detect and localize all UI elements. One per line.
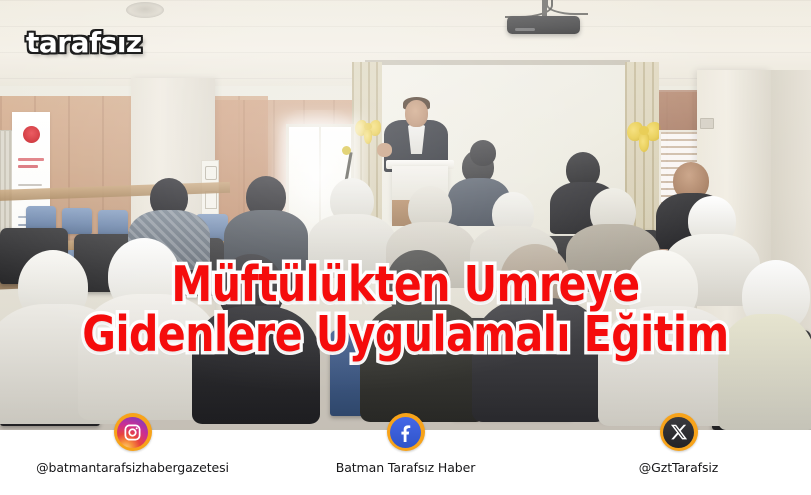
blue-chair (98, 210, 128, 236)
ceiling-vent-icon (126, 2, 164, 18)
social-label-instagram: @batmantarafsizhabergazetesi (36, 460, 229, 475)
social-label-x: @GztTarafsiz (639, 460, 718, 475)
speaker-hand (377, 143, 392, 157)
instagram-icon[interactable] (117, 417, 148, 448)
news-image-card: tarafsız Müftülükten Umreye Gidenlere Uy… (0, 0, 811, 495)
social-item-instagram[interactable]: @batmantarafsizhabergazetesi (40, 430, 225, 475)
wall-socket-icon (700, 118, 714, 129)
curtain-bow-right-icon (627, 120, 661, 152)
headline: Müftülükten Umreye Gidenlere Uygulamalı … (0, 262, 811, 357)
tarafsiz-watermark-logo: tarafsız (26, 26, 142, 59)
headline-line-1: Müftülükten Umreye (28, 262, 782, 307)
social-links-row: @batmantarafsizhabergazetesi Batman Tara… (0, 430, 811, 495)
instagram-icon-ring[interactable] (114, 413, 152, 451)
audience-head (470, 140, 496, 166)
social-label-facebook: Batman Tarafsız Haber (336, 460, 476, 475)
banner-logo-icon (23, 126, 40, 143)
x-twitter-icon[interactable] (663, 417, 694, 448)
facebook-icon-ring[interactable] (387, 413, 425, 451)
curtain-bow-left-icon (355, 118, 381, 144)
headline-line-2: Gidenlere Uygulamalı Eğitim (28, 312, 782, 357)
x-twitter-icon-ring[interactable] (660, 413, 698, 451)
microphone-icon (342, 146, 351, 155)
speaker-head (405, 100, 428, 127)
social-item-x[interactable]: @GztTarafsiz (586, 430, 771, 475)
social-item-facebook[interactable]: Batman Tarafsız Haber (313, 430, 498, 475)
event-photo (0, 0, 811, 430)
projection-screen-rail (365, 60, 630, 65)
social-footer: @batmantarafsizhabergazetesi Batman Tara… (0, 430, 811, 495)
ceiling-projector-icon (507, 16, 580, 34)
facebook-icon[interactable] (390, 417, 421, 448)
